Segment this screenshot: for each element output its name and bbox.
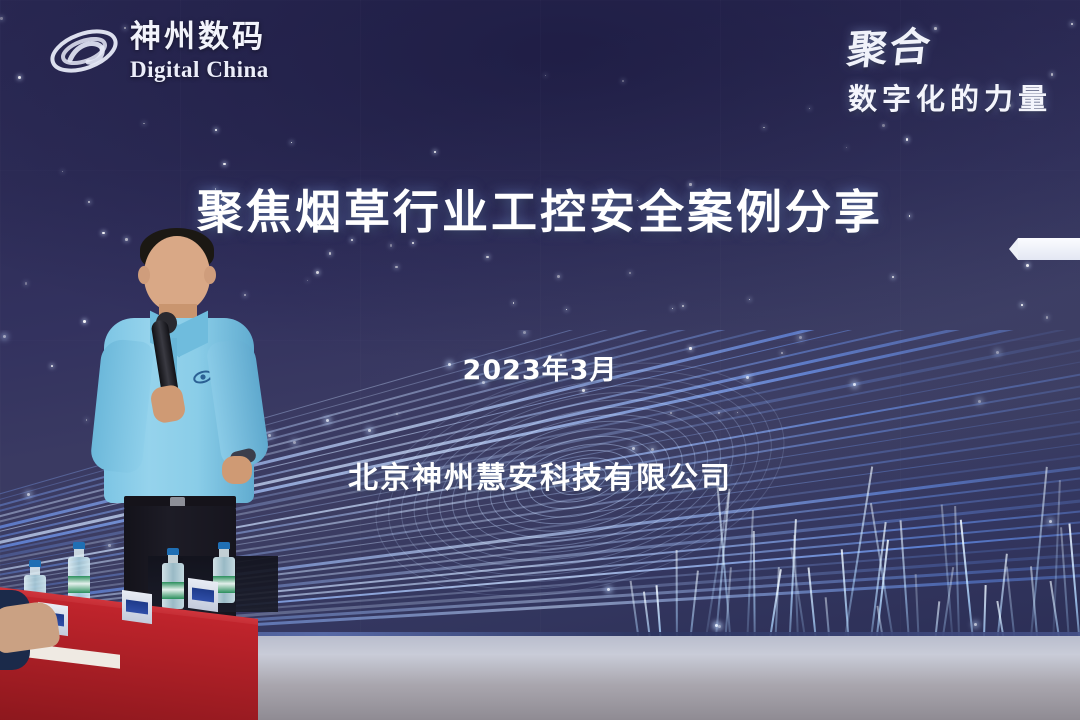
bottle-label (68, 576, 90, 593)
glow-particle (978, 400, 981, 403)
glow-particle (607, 588, 610, 591)
name-tent-card (188, 578, 218, 612)
bottle-cap (73, 542, 85, 549)
star-dot (486, 256, 488, 258)
speaker-ear-left (138, 266, 150, 284)
star-dot (412, 242, 413, 243)
glow-particle (651, 448, 654, 451)
star-dot (223, 163, 225, 165)
bottle-cap (29, 560, 41, 567)
glow-particle (293, 441, 296, 444)
glow-particle (974, 623, 977, 626)
screen-right-tab-graphic (1018, 238, 1080, 260)
bottle-body (162, 563, 184, 609)
star-dot (434, 151, 436, 153)
glow-particle (523, 331, 526, 334)
star-dot (1046, 316, 1049, 319)
bottle-neck (219, 549, 229, 557)
water-bottle (162, 548, 184, 609)
bottle-label (162, 582, 184, 599)
star-dot (763, 127, 764, 128)
name-card-text-block (192, 587, 214, 602)
glow-particle (718, 625, 721, 628)
speaker-hand-right (222, 456, 252, 484)
bottle-neck (168, 555, 178, 563)
speaker-ear-right (204, 266, 216, 284)
star-dot (215, 129, 217, 131)
glow-particle (326, 419, 329, 422)
bottle-neck (30, 567, 40, 575)
star-dot (18, 76, 21, 79)
star-dot (622, 80, 624, 82)
glow-particle (632, 447, 635, 450)
brand-name-en: Digital China (130, 58, 269, 81)
audience-member-hand (0, 600, 61, 654)
slogan-subtitle: 数字化的力量 (848, 76, 1052, 118)
glow-particle (3, 335, 6, 338)
glow-particle (368, 429, 371, 432)
star-dot (0, 17, 2, 19)
name-tent-card (122, 590, 152, 624)
star-dot (557, 275, 560, 278)
digital-china-spiral-logo-icon (48, 20, 120, 82)
event-slogan-logo: 聚合 数字化的力量 (848, 16, 1052, 118)
bottle-cap (218, 542, 230, 549)
digital-china-wordmark: 神州数码 Digital China (130, 22, 269, 81)
glow-particle (1049, 520, 1052, 523)
name-card-text-block (126, 599, 148, 614)
digital-china-logo: 神州数码 Digital China (48, 20, 269, 82)
bottle-neck (74, 549, 84, 557)
brand-name-cn: 神州数码 (130, 22, 269, 53)
water-bottle (68, 542, 90, 603)
slogan-calligraphy: 聚合 (845, 14, 936, 76)
star-dot (892, 276, 894, 278)
conference-stage-photo: 聚焦烟草行业工控安全案例分享 2023年3月 北京神州慧安科技有限公司 神州数码… (0, 0, 1080, 720)
star-dot (291, 142, 292, 143)
star-dot (672, 308, 673, 309)
star-dot (1026, 264, 1029, 267)
star-dot (1021, 304, 1023, 306)
glow-particle (799, 336, 802, 339)
speaker-head (144, 236, 210, 312)
bottle-cap (167, 548, 179, 555)
star-dot (329, 252, 332, 255)
star-dot (1071, 23, 1073, 25)
star-dot (749, 299, 750, 300)
